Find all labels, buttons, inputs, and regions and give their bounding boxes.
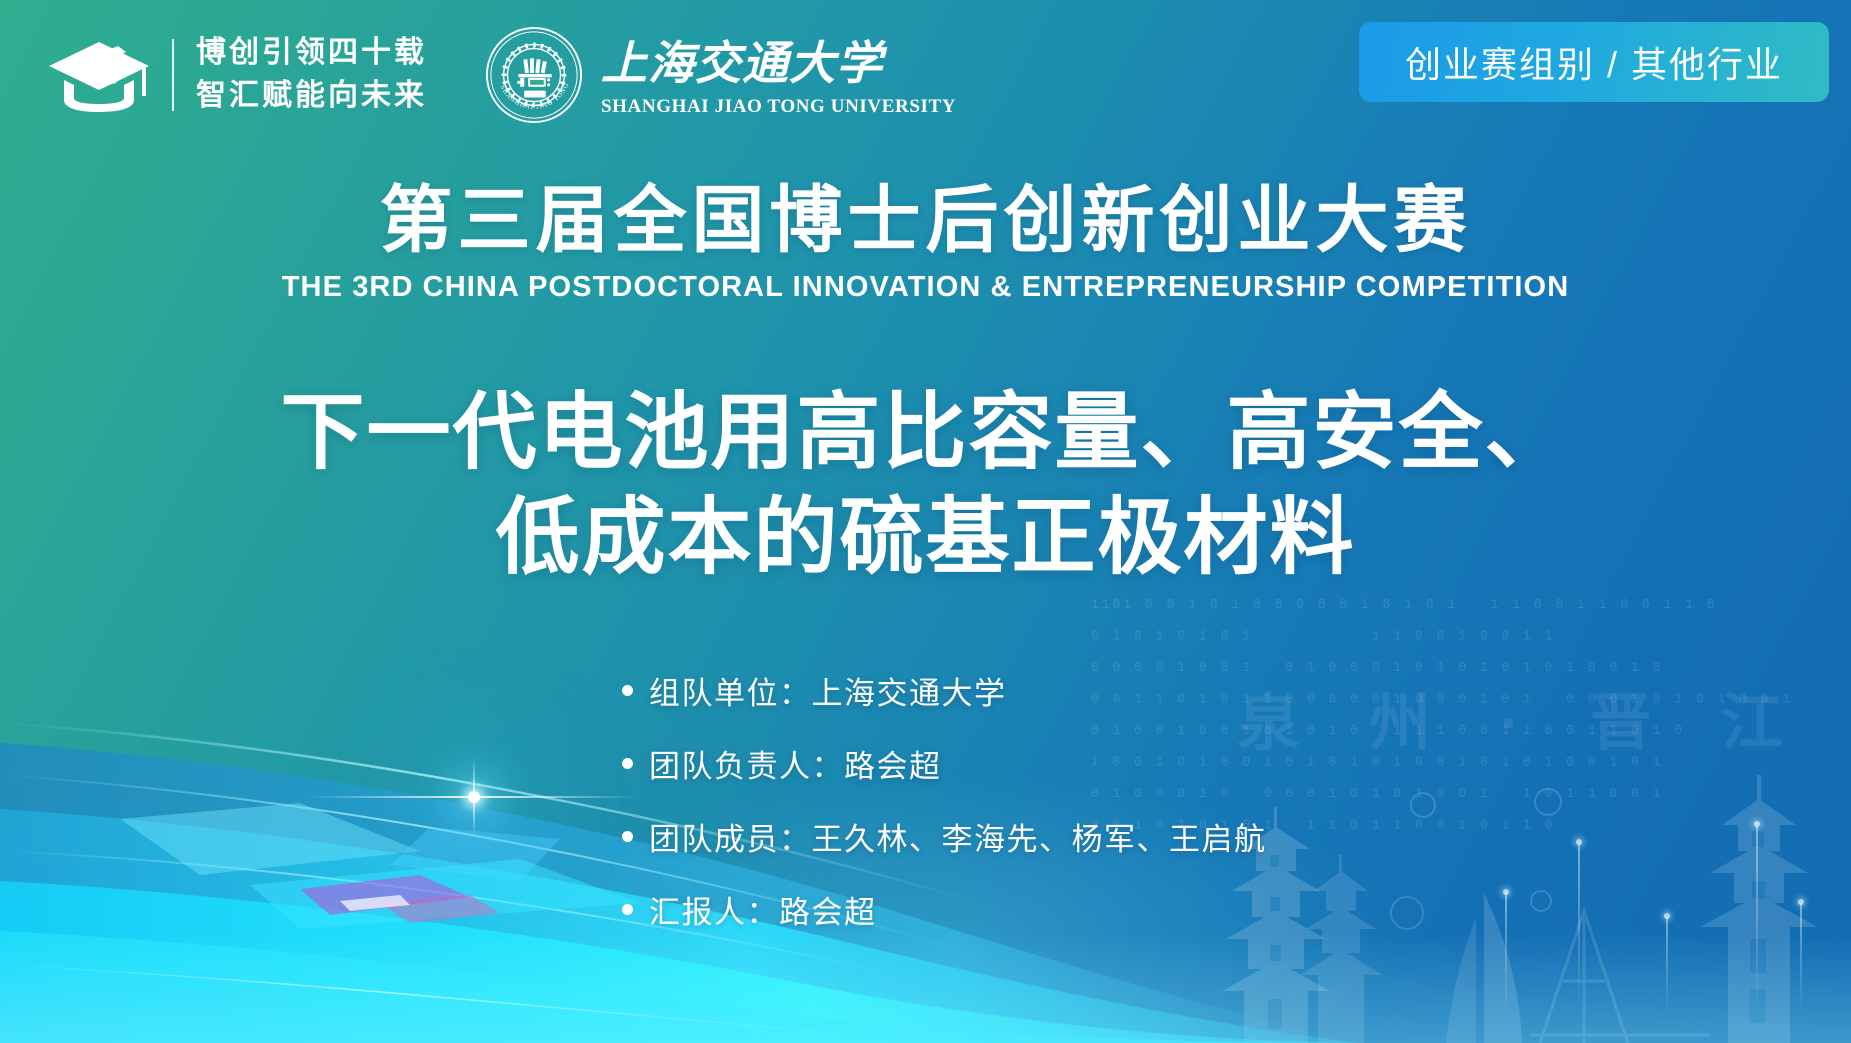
ring-decoration — [1390, 896, 1424, 930]
svg-text:上海交通大学: 上海交通大学 — [601, 38, 888, 89]
horizon-glow — [0, 933, 1851, 1043]
ring-decoration — [1410, 792, 1436, 818]
light-burst-decoration — [468, 791, 480, 803]
list-item: 团队负责人：路会超 — [622, 741, 1267, 786]
university-name-block: 上海交通大学 SHANGHAI JIAO TONG UNIVERSITY — [601, 32, 956, 118]
competition-tagline: 博创引领四十载 智汇赋能向未来 — [196, 32, 427, 117]
bullet-icon — [622, 831, 633, 842]
project-title-line-1: 下一代电池用高比容量、高安全、 — [0, 380, 1851, 485]
project-title: 下一代电池用高比容量、高安全、 低成本的硫基正极材料 — [0, 380, 1851, 590]
category-badge[interactable]: 创业赛组别 / 其他行业 — [1359, 22, 1829, 102]
tagline-line-1: 博创引领四十载 — [196, 32, 427, 75]
tagline-line-2: 智汇赋能向未来 — [196, 75, 427, 118]
university-logo: 1896 SHANGHAI JIAO TONG UNIVERSITY 上海交通大… — [485, 26, 956, 124]
project-title-line-2: 低成本的硫基正极材料 — [0, 485, 1851, 590]
list-item: 组队单位：上海交通大学 — [622, 668, 1267, 713]
bullet-icon — [622, 758, 633, 769]
list-item: 汇报人：路会超 — [622, 887, 1267, 932]
competition-logo: 博创引领四十载 智汇赋能向未来 — [44, 32, 427, 117]
logo-divider — [172, 39, 174, 111]
list-item: 团队成员：王久林、李海先、杨军、王启航 — [622, 814, 1267, 859]
bullet-icon — [622, 685, 633, 696]
team-row-label: 团队负责人：路会超 — [649, 741, 942, 786]
team-row-label: 团队成员：王久林、李海先、杨军、王启航 — [649, 814, 1267, 859]
team-row-label: 汇报人：路会超 — [649, 887, 877, 932]
competition-title-en: THE 3RD CHINA POSTDOCTORAL INNOVATION & … — [0, 271, 1851, 304]
team-row-label: 组队单位：上海交通大学 — [649, 668, 1007, 713]
sjtu-seal-icon: 1896 SHANGHAI JIAO TONG UNIVERSITY — [485, 26, 583, 124]
seal-year: 1896 — [526, 90, 542, 99]
competition-title-block: 第三届全国博士后创新创业大赛 THE 3RD CHINA POSTDOCTORA… — [0, 182, 1851, 304]
ring-decoration — [1534, 788, 1562, 816]
bullet-icon — [622, 904, 633, 915]
sjtu-chinese-name-calligraphy: 上海交通大学 — [601, 32, 891, 94]
team-info-list: 组队单位：上海交通大学 团队负责人：路会超 团队成员：王久林、李海先、杨军、王启… — [622, 668, 1267, 932]
competition-title-cn: 第三届全国博士后创新创业大赛 — [0, 182, 1851, 261]
ring-decoration — [1530, 890, 1552, 912]
presentation-slide: 1101 0 0 1 0 1 0 0 0 0 0 1 0 1 0 1 1 1 0… — [0, 0, 1851, 1043]
graduation-cap-logo-icon — [44, 36, 154, 114]
university-name-en: SHANGHAI JIAO TONG UNIVERSITY — [601, 96, 956, 118]
